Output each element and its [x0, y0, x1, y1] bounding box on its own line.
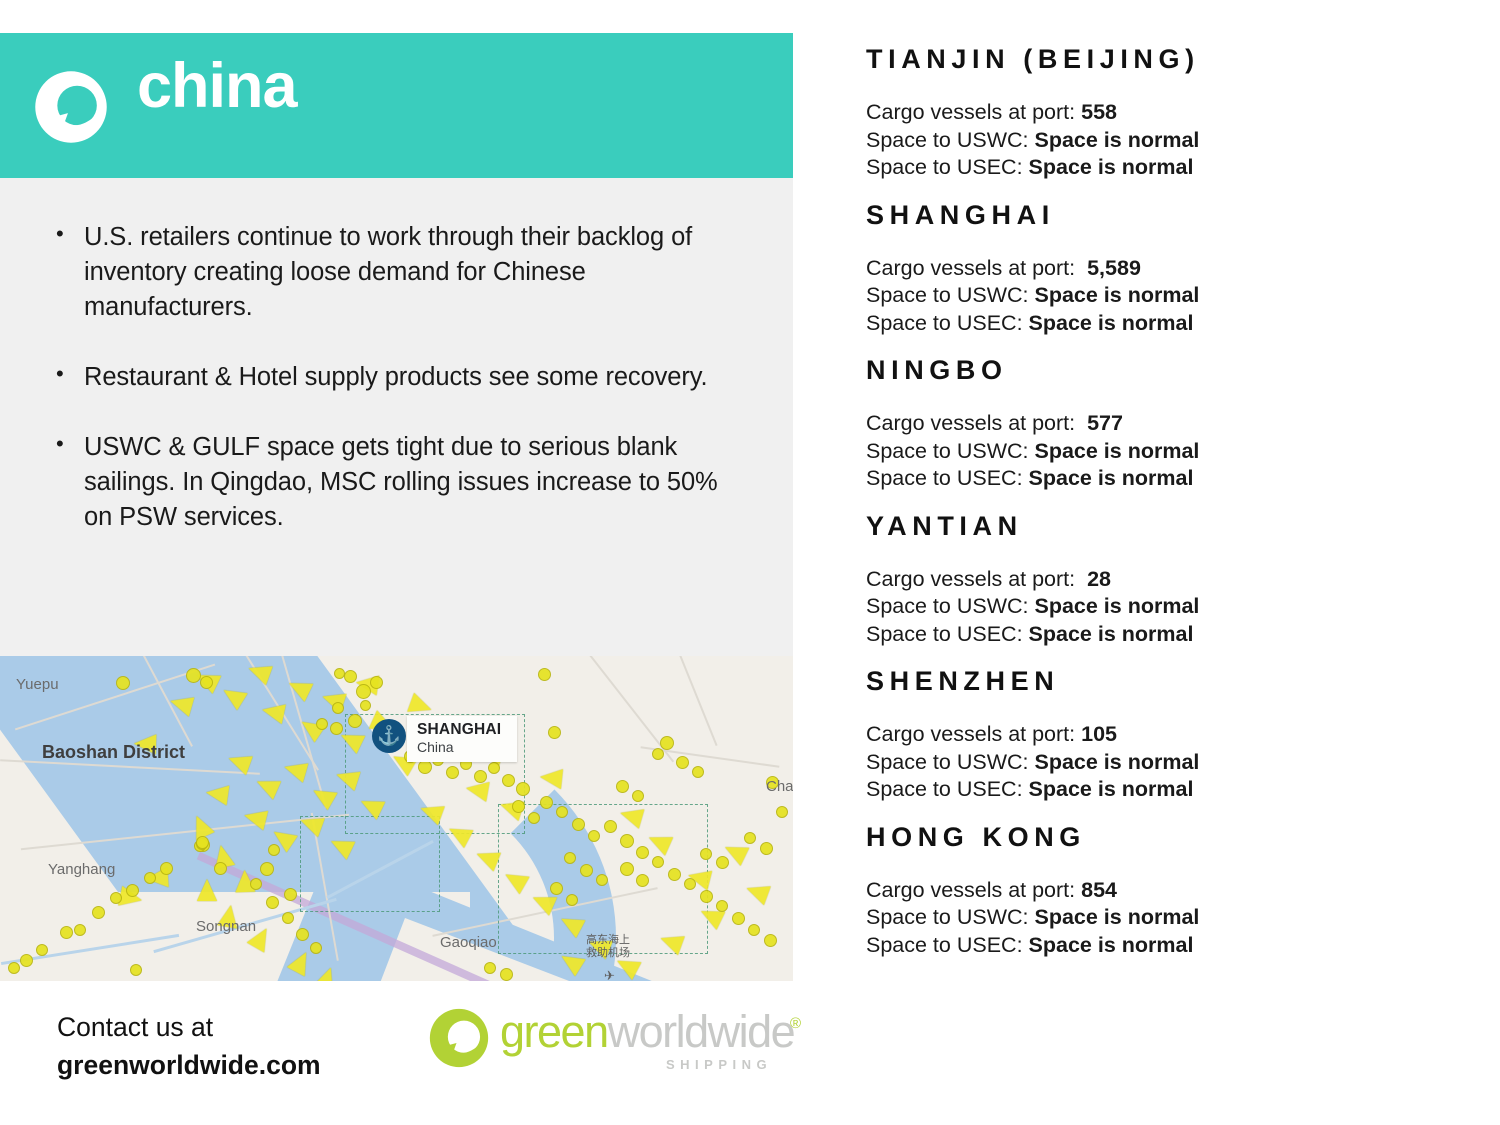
vessel-marker [260, 700, 286, 724]
vessel-dot [580, 864, 593, 877]
port-usec-line: Space to USEC: Space is normal [866, 932, 1466, 960]
port-vessels-label: Cargo vessels at port: [866, 722, 1075, 746]
green-worldwide-circle-g-icon [428, 1007, 490, 1069]
list-item: USWC & GULF space gets tight due to seri… [52, 430, 742, 535]
green-worldwide-circle-g-icon [33, 69, 109, 145]
vessel-dot [484, 962, 496, 974]
list-item: Restaurant & Hotel supply products see s… [52, 360, 742, 395]
left-column: china U.S. retailers continue to work th… [0, 0, 793, 1125]
port-usec-line: Space to USEC: Space is normal [866, 621, 1466, 649]
vessel-dot [616, 780, 629, 793]
port-vessels-line: Cargo vessels at port: 577 [866, 410, 1466, 438]
vessel-dot [764, 934, 777, 947]
port-uswc-label: Space to USWC: [866, 594, 1029, 618]
port-uswc-line: Space to USWC: Space is normal [866, 282, 1466, 310]
registered-mark: ® [790, 1015, 801, 1032]
vessel-dot [716, 900, 728, 912]
map-label: Yanghang [48, 861, 115, 878]
vessel-dot [370, 676, 383, 689]
vessel-dot [684, 878, 696, 890]
port-uswc-label: Space to USWC: [866, 905, 1029, 929]
port-usec-value: Space is normal [1029, 155, 1194, 179]
map-label: Yuepu [16, 676, 59, 693]
port-usec-line: Space to USEC: Space is normal [866, 776, 1466, 804]
vessel-dot [528, 812, 540, 824]
vessel-dot [196, 836, 209, 849]
port-vessels-line: Cargo vessels at port: 854 [866, 877, 1466, 905]
vessel-dot [538, 668, 551, 681]
port-block-hongkong: HONG KONG Cargo vessels at port: 854 Spa… [866, 822, 1466, 960]
vessel-dot [732, 912, 745, 925]
vessel-dot [556, 806, 568, 818]
port-uswc-label: Space to USWC: [866, 750, 1029, 774]
vessel-dot [296, 928, 309, 941]
port-name: SHENZHEN [866, 666, 1466, 697]
port-uswc-value: Space is normal [1034, 128, 1199, 152]
port-vessels-line: Cargo vessels at port: 105 [866, 721, 1466, 749]
port-vessels-label: Cargo vessels at port: [866, 411, 1081, 435]
vessel-dot [652, 748, 664, 760]
map-label-chinese: 高东海上 救助机场 [586, 934, 630, 959]
port-usec-value: Space is normal [1029, 311, 1194, 335]
vessel-dot [266, 896, 279, 909]
brand-wordmark: greenworldwide [500, 1009, 794, 1054]
vessel-dot [572, 818, 585, 831]
vessel-dot [74, 924, 86, 936]
map-place-subtitle: China [417, 739, 501, 755]
port-name: YANTIAN [866, 511, 1466, 542]
port-uswc-line: Space to USWC: Space is normal [866, 749, 1466, 777]
port-usec-label: Space to USEC: [866, 622, 1023, 646]
port-vessels-value: 558 [1081, 100, 1117, 124]
port-block-shenzhen: SHENZHEN Cargo vessels at port: 105 Spac… [866, 666, 1466, 804]
port-block-shanghai: SHANGHAI Cargo vessels at port: 5,589 Sp… [866, 200, 1466, 338]
vessel-dot [550, 882, 563, 895]
vessel-dot [676, 756, 689, 769]
vessel-dot [160, 862, 173, 875]
port-uswc-value: Space is normal [1034, 905, 1199, 929]
vessel-dot [144, 872, 156, 884]
vessel-dot [418, 760, 432, 774]
vessel-dot [250, 878, 262, 890]
contact-line-1: Contact us at [57, 1009, 321, 1047]
vessel-dot [566, 894, 578, 906]
vessel-dot [668, 868, 681, 881]
vessel-marker [539, 767, 563, 789]
vessel-dot [344, 670, 357, 683]
port-usec-line: Space to USEC: Space is normal [866, 310, 1466, 338]
vessel-dot [588, 830, 600, 842]
vessel-dot [744, 832, 756, 844]
port-usec-label: Space to USEC: [866, 466, 1023, 490]
vessel-dot [36, 944, 48, 956]
bullets-panel: U.S. retailers continue to work through … [0, 178, 793, 656]
port-uswc-line: Space to USWC: Space is normal [866, 438, 1466, 466]
vessel-dot [620, 834, 634, 848]
port-uswc-value: Space is normal [1034, 283, 1199, 307]
vessel-dot [130, 964, 142, 976]
vessel-dot [310, 942, 322, 954]
port-usec-line: Space to USEC: Space is normal [866, 154, 1466, 182]
port-usec-value: Space is normal [1029, 777, 1194, 801]
vessel-dot [284, 888, 297, 901]
vessel-dot [330, 722, 343, 735]
port-vessels-label: Cargo vessels at port: [866, 100, 1075, 124]
port-vessels-value: 5,589 [1087, 256, 1141, 280]
port-vessels-label: Cargo vessels at port: [866, 878, 1075, 902]
vessel-dot [316, 718, 328, 730]
vessel-dot [334, 668, 345, 679]
vessel-dot [126, 884, 139, 897]
port-vessels-line: Cargo vessels at port: 28 [866, 566, 1466, 594]
vessel-dot [502, 774, 515, 787]
port-uswc-label: Space to USWC: [866, 128, 1029, 152]
vessel-dot [260, 862, 274, 876]
port-uswc-value: Space is normal [1034, 750, 1199, 774]
port-uswc-label: Space to USWC: [866, 439, 1029, 463]
map-place-card[interactable]: SHANGHAI China [407, 716, 517, 762]
port-uswc-label: Space to USWC: [866, 283, 1029, 307]
port-vessels-label: Cargo vessels at port: [866, 256, 1081, 280]
port-vessels-value: 854 [1081, 878, 1117, 902]
vessel-dot [700, 890, 713, 903]
port-usec-value: Space is normal [1029, 466, 1194, 490]
vessel-dot [360, 700, 371, 711]
vessel-dot [268, 844, 280, 856]
port-vessels-value: 105 [1081, 722, 1117, 746]
vessel-dot [636, 874, 649, 887]
port-usec-label: Space to USEC: [866, 933, 1023, 957]
vessel-dot [596, 874, 608, 886]
port-block-tianjin: TIANJIN (BEIJING) Cargo vessels at port:… [866, 44, 1466, 182]
vessel-dot [512, 800, 525, 813]
vessel-dot [660, 736, 674, 750]
map-label: Gaoqiao [440, 934, 497, 951]
vessel-dot [116, 676, 130, 690]
vessel-dot [446, 766, 459, 779]
airport-icon: ✈ [604, 968, 615, 981]
vessel-dot [748, 924, 760, 936]
vessel-dot [540, 796, 553, 809]
green-worldwide-logo: greenworldwide ® SHIPPING [428, 1003, 798, 1073]
slide-root: china U.S. retailers continue to work th… [0, 0, 1500, 1125]
map-place-title: SHANGHAI [417, 721, 501, 739]
vessel-dot [110, 892, 122, 904]
vessel-dot [488, 762, 500, 774]
map-label: Songnan [196, 918, 256, 935]
map-anchorage-zone [300, 816, 440, 912]
port-name: TIANJIN (BEIJING) [866, 44, 1466, 75]
port-usec-line: Space to USEC: Space is normal [866, 465, 1466, 493]
vessel-dot [692, 766, 704, 778]
vessel-dot [776, 806, 788, 818]
vessel-dot [200, 676, 213, 689]
port-status-column: TIANJIN (BEIJING) Cargo vessels at port:… [866, 0, 1466, 1125]
vessel-dot [716, 856, 729, 869]
vessel-dot [632, 790, 644, 802]
country-header-band: china [0, 33, 793, 178]
port-uswc-value: Space is normal [1034, 439, 1199, 463]
list-item: U.S. retailers continue to work through … [52, 220, 742, 325]
vessel-dot [282, 912, 294, 924]
port-usec-label: Space to USEC: [866, 311, 1023, 335]
brand-word-green: green [500, 1006, 608, 1057]
vessel-dot [332, 702, 344, 714]
vessel-dot [348, 714, 362, 728]
vessel-dot [214, 862, 227, 875]
vessel-dot [8, 962, 20, 974]
port-uswc-value: Space is normal [1034, 594, 1199, 618]
vessel-dot [60, 926, 73, 939]
map-label: Baoshan District [42, 742, 185, 763]
port-name: SHANGHAI [866, 200, 1466, 231]
port-uswc-line: Space to USWC: Space is normal [866, 904, 1466, 932]
vessel-dot [20, 954, 33, 967]
port-uswc-line: Space to USWC: Space is normal [866, 593, 1466, 621]
port-usec-label: Space to USEC: [866, 155, 1023, 179]
vessel-dot [92, 906, 105, 919]
vessel-dot [652, 856, 664, 868]
vessel-dot [186, 668, 201, 683]
port-block-yantian: YANTIAN Cargo vessels at port: 28 Space … [866, 511, 1466, 649]
vessel-dot [636, 846, 649, 859]
contact-website[interactable]: greenworldwide.com [57, 1047, 321, 1085]
map-label: Chan [766, 778, 793, 795]
port-usec-value: Space is normal [1029, 933, 1194, 957]
vessel-dot [516, 782, 530, 796]
brand-tagline: SHIPPING [666, 1057, 772, 1072]
vessel-dot [564, 852, 576, 864]
anchor-icon[interactable]: ⚓ [372, 719, 406, 753]
contact-block: Contact us at greenworldwide.com [57, 1009, 321, 1084]
port-vessels-value: 28 [1087, 567, 1111, 591]
port-vessels-line: Cargo vessels at port: 5,589 [866, 255, 1466, 283]
vessel-dot [700, 848, 712, 860]
vessel-dot [620, 862, 634, 876]
port-usec-value: Space is normal [1029, 622, 1194, 646]
vessel-dot [500, 968, 513, 981]
port-vessels-line: Cargo vessels at port: 558 [866, 99, 1466, 127]
page-title: china [137, 55, 297, 118]
port-block-ningbo: NINGBO Cargo vessels at port: 577 Space … [866, 355, 1466, 493]
port-usec-label: Space to USEC: [866, 777, 1023, 801]
brand-word-worldwide: worldwide [608, 1006, 795, 1057]
vessel-dot [356, 684, 371, 699]
vessel-traffic-map[interactable]: SHANGHAI China ⚓ Yuepu Baoshan District … [0, 656, 793, 981]
vessel-dot [760, 842, 773, 855]
footer: Contact us at greenworldwide.com greenwo… [0, 981, 793, 1125]
vessel-dot [474, 770, 487, 783]
port-name: NINGBO [866, 355, 1466, 386]
vessel-marker [205, 783, 230, 806]
port-name: HONG KONG [866, 822, 1466, 853]
vessel-dot [548, 726, 561, 739]
port-vessels-value: 577 [1087, 411, 1123, 435]
port-uswc-line: Space to USWC: Space is normal [866, 127, 1466, 155]
vessel-dot [604, 820, 617, 833]
port-vessels-label: Cargo vessels at port: [866, 567, 1081, 591]
vessel-marker [197, 879, 217, 901]
